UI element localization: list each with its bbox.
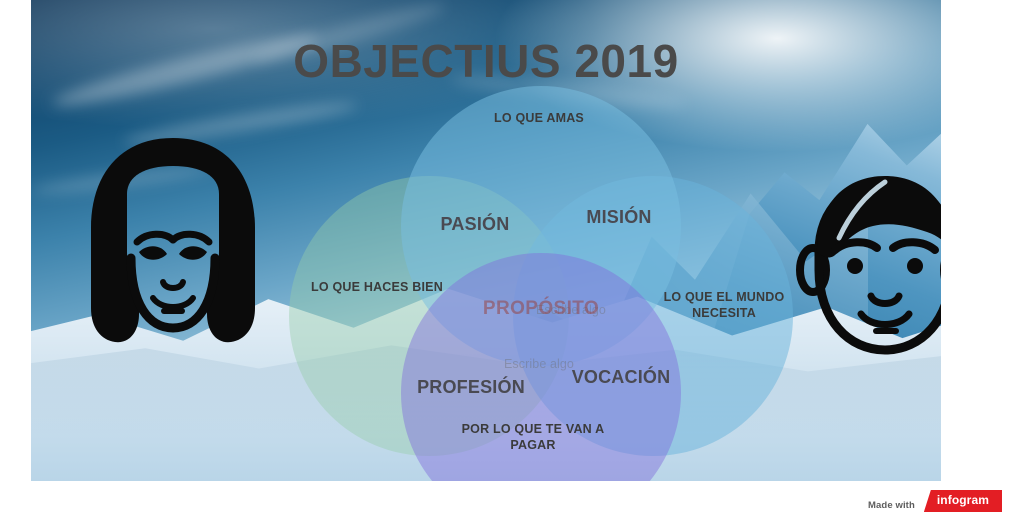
venn-center-label-proposito[interactable]: PROPÓSITO	[456, 297, 626, 321]
man-face-illustration	[789, 166, 941, 362]
infographic-canvas[interactable]: OBJECTIUS 2019 LO QUE AMAS LO QUE HACES …	[31, 0, 941, 481]
venn-inner-label-profesion[interactable]: PROFESIÓN	[401, 376, 541, 399]
venn-inner-label-pasion[interactable]: PASIÓN	[405, 213, 545, 236]
footer-watermark: Made with infogram	[0, 486, 1024, 512]
infogram-brand-badge[interactable]: infogram	[924, 490, 1002, 512]
venn-inner-label-mision[interactable]: MISIÓN	[549, 206, 689, 229]
screenshot-root: OBJECTIUS 2019 LO QUE AMAS LO QUE HACES …	[0, 0, 1024, 512]
venn-outer-label-lo-que-haces-bien[interactable]: LO QUE HACES BIEN	[289, 279, 465, 295]
woman-face-illustration	[75, 132, 271, 352]
venn-outer-label-por-lo-que-te-van-a-pagar[interactable]: POR LO QUE TE VAN A PAGAR	[443, 421, 623, 453]
venn-outer-label-lo-que-el-mundo-necesita[interactable]: LO QUE EL MUNDO NECESITA	[641, 289, 807, 321]
made-with-label: Made with	[868, 500, 915, 511]
venn-outer-label-lo-que-amas[interactable]: LO QUE AMAS	[439, 110, 639, 126]
venn-inner-label-vocacion[interactable]: VOCACIÓN	[551, 366, 691, 389]
page-title: OBJECTIUS 2019	[31, 36, 941, 87]
